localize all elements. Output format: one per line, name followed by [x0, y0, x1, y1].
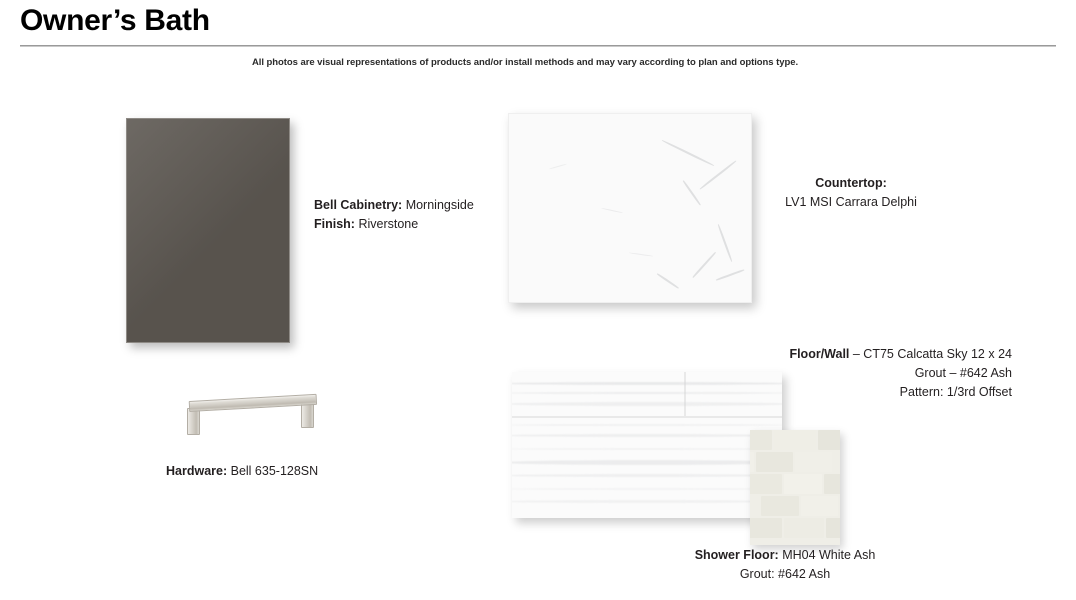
tile-vein: [512, 488, 782, 490]
tile-vein: [512, 474, 782, 477]
countertop-vein: [692, 252, 716, 278]
mosaic-tile: [818, 430, 840, 450]
mosaic-row: [750, 474, 840, 494]
shower-floor-line-1: Shower Floor: MH04 White Ash: [640, 546, 930, 565]
mosaic-tile: [824, 474, 840, 494]
countertop-vein: [683, 180, 701, 205]
shower-floor-mosaic-image: [750, 430, 840, 545]
tile-vein: [512, 434, 782, 437]
floor-wall-value: – CT75 Calcatta Sky 12 x 24: [849, 347, 1012, 361]
countertop-vein: [716, 269, 745, 281]
mosaic-tile: [774, 430, 816, 450]
countertop-vein: [601, 208, 623, 214]
floor-wall-line-1: Floor/Wall – CT75 Calcatta Sky 12 x 24: [712, 345, 1012, 364]
tile-vein: [512, 424, 782, 426]
countertop-vein: [549, 164, 567, 170]
shower-floor-caption: Shower Floor: MH04 White Ash Grout: #642…: [640, 546, 930, 584]
mosaic-tile: [784, 474, 822, 494]
cabinet-pull-image: [183, 392, 320, 436]
tile-vein: [512, 500, 782, 503]
countertop-caption: Countertop: LV1 MSI Carrara Delphi: [752, 174, 950, 212]
mosaic-row: [750, 518, 840, 538]
countertop-vein: [699, 160, 736, 190]
countertop-value: LV1 MSI Carrara Delphi: [752, 193, 950, 212]
mosaic-tile: [801, 496, 838, 516]
cabinet-label: Bell Cabinetry:: [314, 198, 402, 212]
countertop-slab-swatch: [508, 113, 752, 303]
mosaic-row: [750, 452, 834, 472]
floor-wall-label: Floor/Wall: [789, 347, 849, 361]
mosaic-tile: [750, 452, 754, 472]
floor-wall-grout: Grout – #642 Ash: [712, 364, 1012, 383]
mosaic-tile: [750, 430, 772, 450]
shower-floor-value: MH04 White Ash: [779, 548, 876, 562]
finish-value: Riverstone: [355, 217, 418, 231]
hardware-caption: Hardware: Bell 635-128SN: [166, 462, 318, 481]
floor-wall-pattern: Pattern: 1/3rd Offset: [712, 383, 1012, 402]
countertop-label: Countertop:: [752, 174, 950, 193]
tile-vein: [512, 460, 782, 465]
shower-floor-label: Shower Floor:: [695, 548, 779, 562]
hardware-label: Hardware:: [166, 464, 227, 478]
cabinet-caption: Bell Cabinetry: Morningside Finish: Rive…: [314, 196, 474, 234]
tile-grout-line: [684, 372, 686, 416]
mosaic-tile: [826, 518, 840, 538]
mosaic-row: [750, 496, 840, 516]
mosaic-tile: [756, 452, 793, 472]
cabinet-line-1: Bell Cabinetry: Morningside: [314, 196, 474, 215]
cabinet-value: Morningside: [402, 198, 474, 212]
hardware-line-1: Hardware: Bell 635-128SN: [166, 462, 318, 481]
hardware-value: Bell 635-128SN: [227, 464, 318, 478]
tile-vein: [512, 448, 782, 450]
floor-wall-caption: Floor/Wall – CT75 Calcatta Sky 12 x 24 G…: [712, 345, 1012, 402]
cabinet-door-swatch: [126, 118, 290, 343]
page-title: Owner’s Bath: [20, 1, 210, 41]
tile-vein: [512, 402, 782, 406]
countertop-vein: [657, 273, 679, 289]
tile-grout-line: [512, 416, 782, 418]
pull-bar: [189, 394, 317, 412]
finish-label: Finish:: [314, 217, 355, 231]
countertop-vein: [661, 139, 714, 166]
mosaic-tile: [750, 474, 782, 494]
mosaic-tile: [795, 452, 832, 472]
countertop-vein: [717, 224, 733, 262]
mosaic-tile: [784, 518, 824, 538]
mosaic-tile: [750, 518, 782, 538]
pull-post-left: [187, 408, 200, 435]
countertop-vein: [629, 252, 653, 256]
mosaic-row: [750, 430, 840, 450]
shower-floor-grout: Grout: #642 Ash: [640, 565, 930, 584]
title-divider: [20, 45, 1056, 47]
cabinet-line-2: Finish: Riverstone: [314, 215, 474, 234]
mosaic-tile: [750, 496, 759, 516]
disclaimer-text: All photos are visual representations of…: [0, 57, 1050, 68]
mosaic-tile: [761, 496, 798, 516]
